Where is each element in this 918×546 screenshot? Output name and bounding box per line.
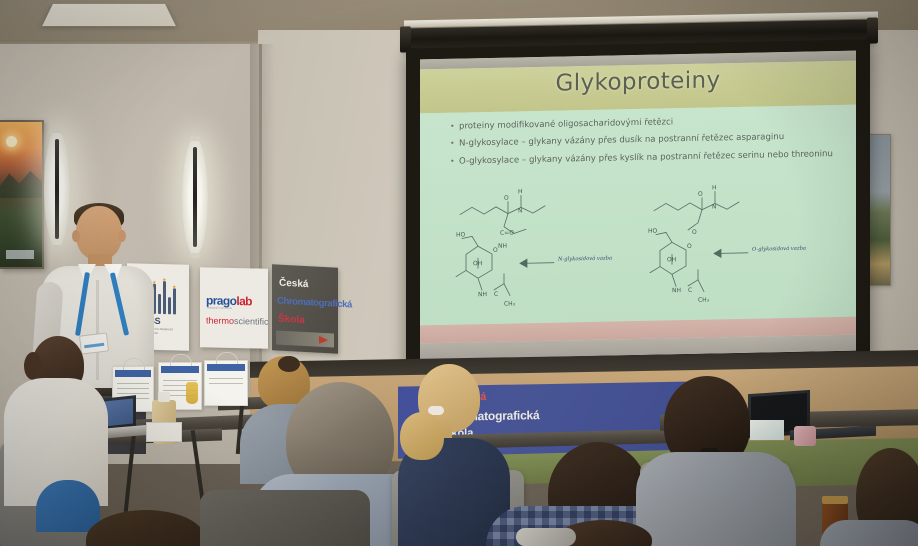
svg-text:OH: OH <box>473 260 482 267</box>
svg-text:CH₃: CH₃ <box>698 297 710 304</box>
attendee-trousers <box>36 480 100 532</box>
thermo-word-b: scientific <box>234 316 269 327</box>
presenter-head <box>76 206 122 260</box>
attendee-hair <box>400 412 444 460</box>
tissue-box <box>146 422 182 442</box>
projection-screen: Glykoproteiny proteiny modifikované olig… <box>406 39 870 370</box>
attendee-top <box>820 520 918 546</box>
slide-title: Glykoproteiny <box>420 65 856 100</box>
svg-text:HO: HO <box>648 228 658 235</box>
attendee-shoulder <box>200 490 370 546</box>
ceiling-light-panel <box>42 4 176 26</box>
hair-clip <box>278 356 300 372</box>
svg-text:NH: NH <box>478 291 487 298</box>
slide-body: proteiny modifikované oligosacharidovými… <box>420 105 856 326</box>
sconce-cap-top <box>52 128 62 133</box>
jar-lid <box>822 496 848 504</box>
ccs-line-3: Škola <box>278 314 305 326</box>
svg-text:H: H <box>712 184 717 191</box>
svg-text:H: H <box>518 188 523 195</box>
svg-text:C: C <box>688 287 692 294</box>
coffee-mug-pink <box>794 426 816 446</box>
svg-text:C: C <box>494 291 498 298</box>
wall-sconce-right <box>182 138 208 256</box>
svg-text:N: N <box>712 203 716 210</box>
thermoscientific-wordmark: thermoscientific <box>206 315 269 326</box>
attendee-hair-bun <box>24 352 42 380</box>
svg-text:CH₃: CH₃ <box>504 300 516 307</box>
ccs-footer-strip <box>276 330 334 347</box>
svg-text:NH: NH <box>498 243 507 250</box>
poster-ceska-chromatograficka-skola: Česká Chromatografická Škola <box>272 264 338 353</box>
pragolab-tagline: analytical instruments <box>207 306 232 310</box>
sconce-blade <box>193 147 197 246</box>
conference-bag-3 <box>204 360 248 406</box>
glycosylation-structure-diagram: OHN HOOH OC=ONH NHCCH₃ OHN HOOH OO NHCCH… <box>442 179 842 315</box>
svg-text:O: O <box>692 229 697 236</box>
o-glycosidic-bond-label: O-glykosidová vazba <box>752 246 806 253</box>
slide-bullet: O-glykosylace – glykany vázány přes kysl… <box>450 148 840 169</box>
ccs-line-1: Česká <box>279 278 308 291</box>
presentation-slide: Glykoproteiny proteiny modifikované olig… <box>420 51 856 360</box>
painting-mountains <box>0 168 42 198</box>
svg-text:C=O: C=O <box>500 229 514 236</box>
slide-bullet-list: proteiny modifikované oligosacharidovými… <box>450 113 840 173</box>
attendee-hair <box>86 510 206 546</box>
poster-pragolab: pragolab analytical instruments thermosc… <box>200 267 268 348</box>
svg-text:N: N <box>518 207 522 214</box>
n-glycosidic-bond-label: N-glykosidová vazba <box>558 256 612 263</box>
presenter-name-badge <box>79 332 109 354</box>
attendee-top <box>636 452 796 546</box>
arrow-icon <box>319 336 328 344</box>
presenter-ear-left <box>72 230 80 242</box>
bottle-cap <box>158 392 170 402</box>
presenter-lanyard <box>78 272 124 342</box>
water-glass-orange <box>186 382 198 404</box>
svg-text:HO: HO <box>456 231 466 238</box>
svg-text:NH: NH <box>672 287 681 294</box>
svg-text:OH: OH <box>667 256 676 263</box>
pragolab-word-b: lab <box>236 294 252 308</box>
thermo-word-a: thermo <box>206 315 234 326</box>
conference-room-photo: Glykoproteiny proteiny modifikované olig… <box>0 0 918 546</box>
presenter-ear-right <box>118 230 126 242</box>
svg-text:O: O <box>698 191 703 198</box>
phone-device <box>516 528 576 546</box>
painting-sun <box>6 136 17 147</box>
svg-text:O: O <box>687 243 692 250</box>
sconce-cap-bottom <box>190 253 200 258</box>
tissue-box <box>750 420 784 440</box>
sconce-cap-top <box>190 136 200 141</box>
svg-text:O: O <box>504 195 509 202</box>
